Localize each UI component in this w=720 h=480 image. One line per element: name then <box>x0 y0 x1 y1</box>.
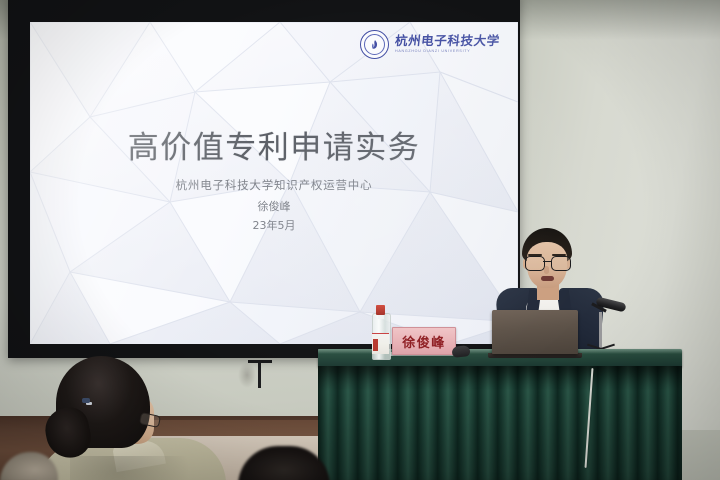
attendee-front-left <box>40 356 200 480</box>
university-name-en: HANGZHOU DIANZI UNIVERSITY <box>395 50 500 54</box>
laptop-lid <box>492 310 578 354</box>
glasses-lens-right <box>551 256 571 271</box>
slide-subtitle-organization: 杭州电子科技大学知识产权运营中心 <box>30 177 518 193</box>
bottle-label-accent <box>373 339 378 351</box>
attendee-hair-clip <box>82 398 90 403</box>
mic-stem <box>599 312 602 348</box>
glasses-lens-left <box>525 256 545 271</box>
university-logo-text: 杭州电子科技大学 HANGZHOU DIANZI UNIVERSITY <box>395 35 500 54</box>
wall-smudge <box>238 362 256 388</box>
projection-screen-surface: 杭州电子科技大学 HANGZHOU DIANZI UNIVERSITY 高价值专… <box>30 22 518 344</box>
projection-screen-frame: 杭州电子科技大学 HANGZHOU DIANZI UNIVERSITY 高价值专… <box>8 0 520 358</box>
laptop <box>492 310 578 358</box>
water-bottle <box>372 303 389 358</box>
bottle-cap <box>376 305 385 315</box>
speaker-mouth <box>541 276 554 281</box>
university-name-cn: 杭州电子科技大学 <box>394 35 500 48</box>
emblem-bird-icon <box>368 39 381 52</box>
glasses-bridge <box>543 261 552 262</box>
slide-subtitle-presenter: 徐俊峰 <box>30 198 518 214</box>
screen-mount-bracket-arm <box>248 360 272 363</box>
lecture-photo-scene: 杭州电子科技大学 HANGZHOU DIANZI UNIVERSITY 高价值专… <box>0 0 720 480</box>
name-placard-text: 徐俊峰 <box>402 332 446 351</box>
attendee-shadow <box>70 456 190 480</box>
university-emblem-icon <box>360 30 389 59</box>
name-placard: 徐俊峰 <box>392 327 456 355</box>
slide-subtitle-date: 23年5月 <box>30 217 518 233</box>
speaker-nose <box>544 266 549 274</box>
screen-mount-bracket <box>258 360 261 388</box>
table-skirt-shading <box>318 366 682 480</box>
slide-title: 高价值专利申请实务 <box>30 122 518 167</box>
slide-university-logo: 杭州电子科技大学 HANGZHOU DIANZI UNIVERSITY <box>360 30 500 59</box>
